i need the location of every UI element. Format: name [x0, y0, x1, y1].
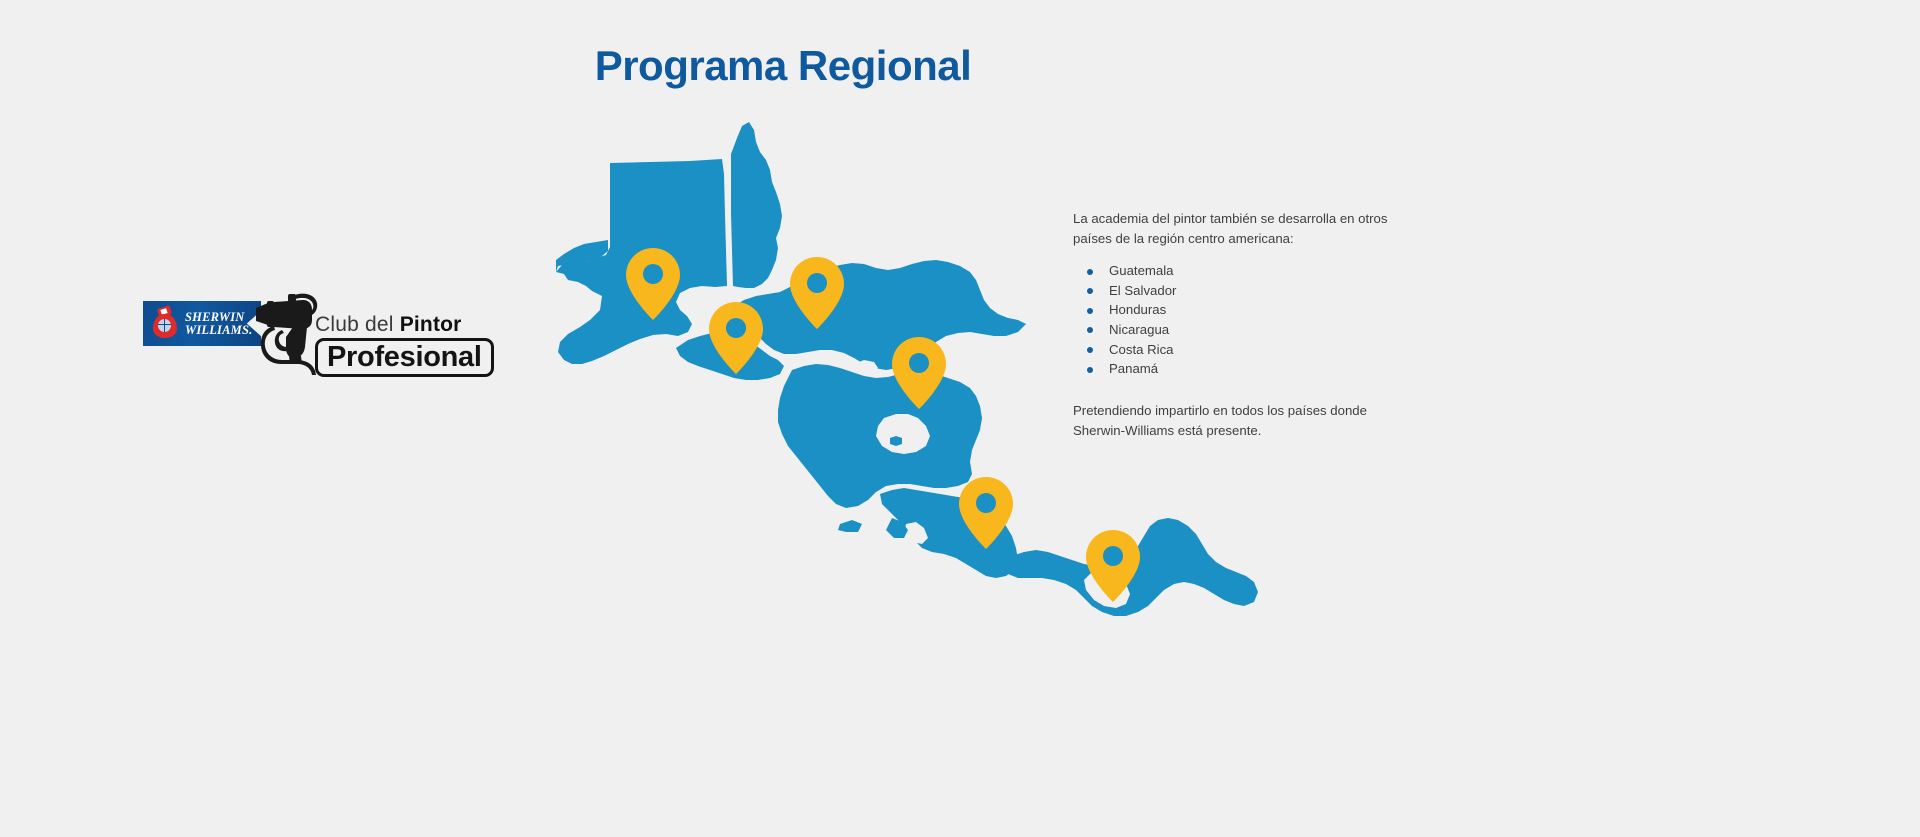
country-label: Nicaragua — [1109, 322, 1169, 337]
list-item[interactable]: Nicaragua — [1087, 320, 1413, 340]
profesional-box: Profesional — [315, 338, 494, 377]
sherwin-williams-wordmark: SHERWIN WILLIAMS. — [185, 311, 252, 337]
brand-line-2: WILLIAMS. — [185, 324, 252, 337]
club-subline: Profesional — [327, 341, 482, 373]
sherwin-williams-badge: SHERWIN WILLIAMS. — [143, 301, 261, 346]
bullet-dot-icon — [1087, 288, 1093, 294]
paint-can-globe-icon — [152, 307, 178, 340]
country-label: El Salvador — [1109, 283, 1176, 298]
closing-paragraph: Pretendiendo impartirlo en todos los paí… — [1073, 401, 1413, 441]
list-item[interactable]: El Salvador — [1087, 281, 1413, 301]
club-strong: Pintor — [400, 313, 462, 336]
list-item[interactable]: Panamá — [1087, 359, 1413, 379]
bullet-dot-icon — [1087, 308, 1093, 314]
country-label: Panamá — [1109, 361, 1158, 376]
list-item[interactable]: Honduras — [1087, 300, 1413, 320]
info-panel: La academia del pintor también se desarr… — [1073, 209, 1413, 441]
page-title: Programa Regional — [0, 42, 1566, 90]
country-list: Guatemala El Salvador Honduras Nicaragua… — [1087, 261, 1413, 379]
list-item[interactable]: Costa Rica — [1087, 340, 1413, 360]
bullet-dot-icon — [1087, 269, 1093, 275]
intro-paragraph: La academia del pintor también se desarr… — [1073, 209, 1413, 249]
club-del-pintor-profesional-logo[interactable]: SHERWIN WILLIAMS. — [143, 291, 493, 383]
club-text-group: Club del Pintor Profesional — [315, 313, 495, 377]
country-label: Honduras — [1109, 302, 1166, 317]
brand-line-1: SHERWIN — [185, 311, 252, 324]
bullet-dot-icon — [1087, 367, 1093, 373]
country-label: Guatemala — [1109, 263, 1174, 278]
club-prefix: Club del — [315, 313, 400, 336]
slide-canvas: Programa Regional SHERWIN WILLIAMS. — [0, 0, 1920, 837]
club-headline: Club del Pintor — [315, 313, 495, 337]
country-label: Costa Rica — [1109, 342, 1174, 357]
list-item[interactable]: Guatemala — [1087, 261, 1413, 281]
bullet-dot-icon — [1087, 347, 1093, 353]
bullet-dot-icon — [1087, 327, 1093, 333]
